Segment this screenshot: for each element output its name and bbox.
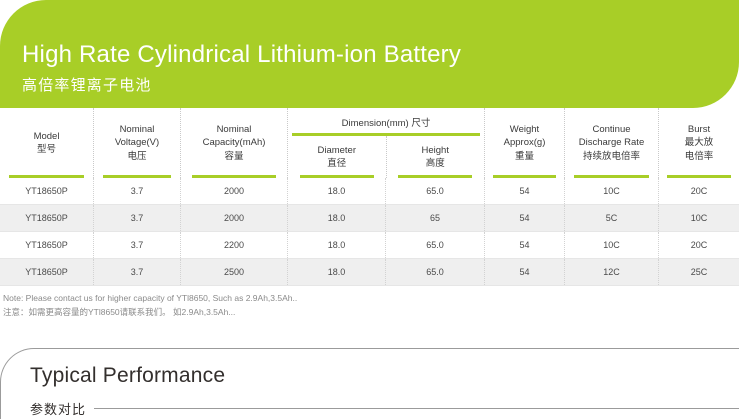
header-continue-zh: 持续放电倍率 [583,150,640,163]
header-height-zh: 高度 [426,157,445,170]
cell-weight: 54 [484,259,564,285]
page-title: High Rate Cylindrical Lithium-ion Batter… [22,41,461,69]
cell-voltage: 3.7 [93,259,180,285]
cell-weight: 54 [484,178,564,204]
cell-model: YT18650P [0,259,93,285]
column-header-height: Height 高度 [386,136,485,178]
table-row: YT18650P 3.7 2000 18.0 65 54 5C 10C [0,205,739,232]
cell-height: 65.0 [385,232,484,258]
page-subtitle-zh: 高倍率锂离子电池 [22,74,152,95]
cell-voltage: 3.7 [93,205,180,231]
section-subtitle-row: 参数对比 [30,398,739,418]
table-row: YT18650P 3.7 2200 18.0 65.0 54 10C 20C [0,232,739,259]
header-diameter-en: Diameter [317,144,356,157]
header-capacity-en-line1: Nominal [217,123,252,136]
header-diameter-zh: 直径 [327,157,346,170]
header-voltage-en-line2: Voltage(V) [115,136,159,149]
cell-diameter: 18.0 [287,178,385,204]
cell-weight: 54 [484,205,564,231]
header-height-en: Height [422,144,449,157]
cell-capacity: 2000 [180,205,287,231]
cell-model: YT18650P [0,178,93,204]
note-line-en: Note: Please contact us for higher capac… [3,292,523,306]
header-voltage-en-line1: Nominal [120,123,155,136]
note-line-zh: 注意：如需更高容量的YTl8650请联系我们。 如2.9Ah,3.5Ah... [3,306,523,320]
table-row: YT18650P 3.7 2500 18.0 65.0 54 12C 25C [0,259,739,286]
cell-height: 65 [385,205,484,231]
header-burst-zh-line1: 最大放 [685,136,714,149]
column-header-burst: Burst 最大放 电倍率 [658,108,739,178]
section-divider-rule [94,408,739,409]
column-header-diameter: Diameter 直径 [288,136,386,178]
header-model-en: Model [34,130,60,143]
header-voltage-zh: 电压 [127,150,146,163]
header-weight-zh: 重量 [515,150,534,163]
cell-burst: 25C [658,259,739,285]
cell-capacity: 2000 [180,178,287,204]
header-model-zh: 型号 [37,143,56,156]
cell-capacity: 2200 [180,232,287,258]
table-row: YT18650P 3.7 2000 18.0 65.0 54 10C 20C [0,178,739,205]
header-burst-zh-line2: 电倍率 [685,150,714,163]
column-header-nominal-voltage: Nominal Voltage(V) 电压 [93,108,180,178]
cell-model: YT18650P [0,205,93,231]
cell-capacity: 2500 [180,259,287,285]
spec-sheet-page: High Rate Cylindrical Lithium-ion Batter… [0,0,739,419]
cell-height: 65.0 [385,259,484,285]
cell-model: YT18650P [0,232,93,258]
table-note: Note: Please contact us for higher capac… [3,292,523,320]
header-dimension-title: Dimension(mm) 尺寸 [288,108,484,136]
cell-continue-discharge: 10C [564,232,658,258]
cell-voltage: 3.7 [93,178,180,204]
column-header-nominal-capacity: Nominal Capacity(mAh) 容量 [180,108,287,178]
header-continue-en-line2: Discharge Rate [579,136,644,149]
cell-continue-discharge: 12C [564,259,658,285]
specification-table: Model 型号 Nominal Voltage(V) 电压 Nominal C… [0,108,739,286]
cell-height: 65.0 [385,178,484,204]
table-header-row: Model 型号 Nominal Voltage(V) 电压 Nominal C… [0,108,739,178]
cell-diameter: 18.0 [287,259,385,285]
column-header-model: Model 型号 [0,108,93,178]
cell-continue-discharge: 10C [564,178,658,204]
cell-weight: 54 [484,232,564,258]
cell-burst: 10C [658,205,739,231]
header-capacity-en-line2: Capacity(mAh) [203,136,266,149]
column-header-continue-discharge-rate: Continue Discharge Rate 持续放电倍率 [564,108,658,178]
cell-voltage: 3.7 [93,232,180,258]
header-banner: High Rate Cylindrical Lithium-ion Batter… [0,0,739,108]
header-continue-en-line1: Continue [592,123,630,136]
header-burst-en: Burst [688,123,710,136]
cell-diameter: 18.0 [287,232,385,258]
header-capacity-zh: 容量 [224,150,243,163]
section-subtitle-zh: 参数对比 [30,399,94,418]
header-weight-en-line2: Approx(g) [504,136,546,149]
dimension-subcolumns: Diameter 直径 Height 高度 [288,136,484,178]
section-title: Typical Performance [30,364,225,388]
cell-diameter: 18.0 [287,205,385,231]
cell-burst: 20C [658,178,739,204]
cell-burst: 20C [658,232,739,258]
column-header-dimension-group: Dimension(mm) 尺寸 Diameter 直径 Height 高度 [287,108,484,178]
header-weight-en-line1: Weight [510,123,539,136]
column-header-weight: Weight Approx(g) 重量 [484,108,564,178]
cell-continue-discharge: 5C [564,205,658,231]
